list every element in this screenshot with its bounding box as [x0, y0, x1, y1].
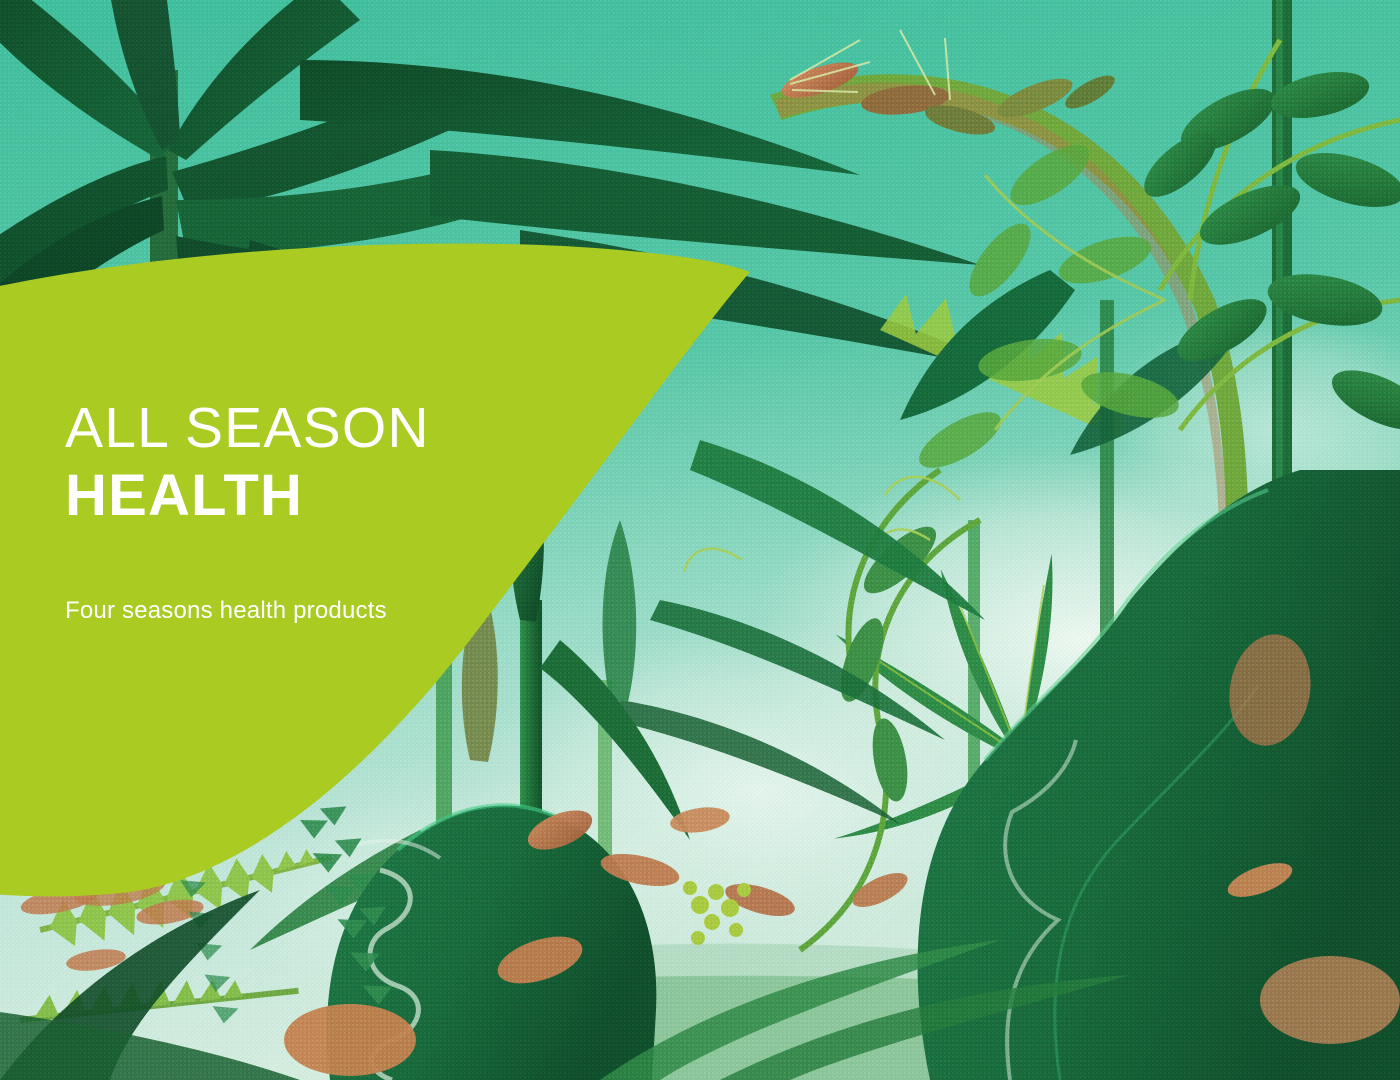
- title-line-1: ALL SEASON: [65, 400, 685, 457]
- poster-canvas: ALL SEASON HEALTH Four seasons health pr…: [0, 0, 1400, 1080]
- badge-text-block: ALL SEASON HEALTH Four seasons health pr…: [65, 400, 685, 625]
- title-line-2: HEALTH: [65, 467, 685, 525]
- subtitle: Four seasons health products: [65, 597, 685, 625]
- leaf-badge: ALL SEASON HEALTH Four seasons health pr…: [0, 0, 800, 950]
